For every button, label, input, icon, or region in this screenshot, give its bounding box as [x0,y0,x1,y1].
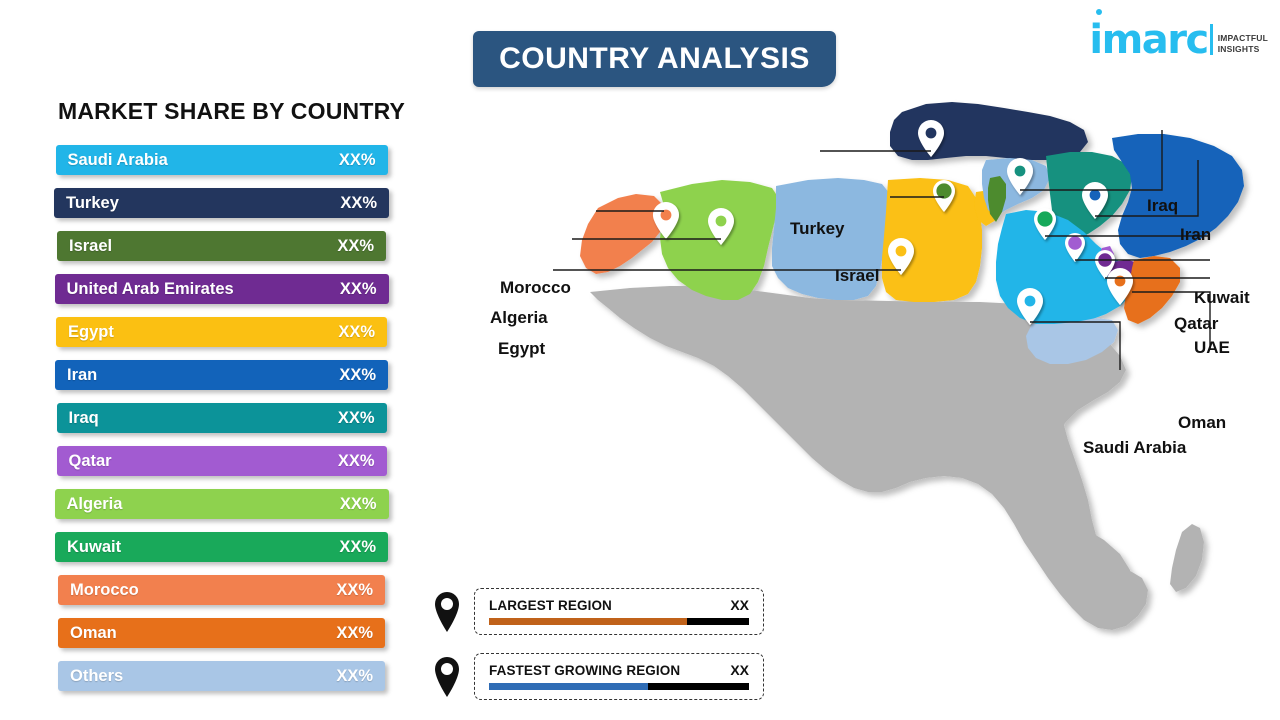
map-label-egypt: Egypt [498,339,545,359]
country-name: Turkey [66,194,119,213]
map-label-oman: Oman [1178,413,1226,433]
map-label-morocco: Morocco [500,278,571,298]
legend-track-fastest-growing-region [489,683,749,690]
country-bar-egypt[interactable]: EgyptXX% [56,317,387,347]
logo-tagline: IMPACTFUL INSIGHTS [1218,33,1268,58]
region-madagascar [1170,524,1204,592]
legend-label-fastest-growing-region: FASTEST GROWING REGION [489,663,680,678]
map-label-algeria: Algeria [490,308,548,328]
legend-label-largest-region: LARGEST REGION [489,598,612,613]
map-label-israel: Israel [835,266,879,286]
country-bar-algeria[interactable]: AlgeriaXX% [55,489,389,519]
country-bar-kuwait[interactable]: KuwaitXX% [55,532,388,562]
country-value: XX% [340,495,377,514]
country-bar-iran[interactable]: IranXX% [55,360,388,390]
legend-value-largest-region: XX [730,597,749,613]
country-value: XX% [336,624,373,643]
country-bar-qatar[interactable]: QatarXX% [57,446,387,476]
logo-wordmark: imarc [1089,23,1207,58]
country-name: United Arab Emirates [67,280,234,299]
logo-tagline-line2: INSIGHTS [1218,44,1268,54]
legend-row-fastest-growing-region: FASTEST GROWING REGION XX [432,653,764,700]
country-value: XX% [338,323,375,342]
country-name: Israel [69,237,112,256]
legend-box-largest-region: LARGEST REGION XX [474,588,764,635]
legend-box-fastest-growing-region: FASTEST GROWING REGION XX [474,653,764,700]
map-label-kuwait: Kuwait [1194,288,1250,308]
map-svg [420,80,1280,640]
country-bar-turkey[interactable]: TurkeyXX% [54,188,389,218]
country-name: Iraq [69,409,99,428]
logo-tagline-line1: IMPACTFUL [1218,33,1268,43]
map-label-uae: UAE [1194,338,1230,358]
country-bar-saudi-arabia[interactable]: Saudi ArabiaXX% [56,145,388,175]
country-name: Others [70,667,123,686]
location-pin-icon [432,655,462,699]
legend-fill-fastest-growing-region [489,683,648,690]
country-value: XX% [336,667,373,686]
country-name: Algeria [67,495,123,514]
legend-track-largest-region [489,618,749,625]
country-name: Egypt [68,323,114,342]
map-label-iraq: Iraq [1147,196,1178,216]
country-bar-israel[interactable]: IsraelXX% [57,231,386,261]
country-bar-iraq[interactable]: IraqXX% [57,403,387,433]
logo-divider-bar [1210,24,1213,55]
map-label-iran: Iran [1180,225,1211,245]
page-title: COUNTRY ANALYSIS [499,42,810,76]
country-name: Iran [67,366,97,385]
map-label-turkey: Turkey [790,219,845,239]
map-label-qatar: Qatar [1174,314,1218,334]
page-title-banner: COUNTRY ANALYSIS [473,31,836,87]
country-name: Kuwait [67,538,121,557]
country-value: XX% [338,409,375,428]
map-label-saudi-arabia: Saudi Arabia [1083,438,1186,458]
country-value: XX% [338,452,375,471]
country-name: Saudi Arabia [68,151,168,170]
legend-fill-largest-region [489,618,687,625]
country-value: XX% [339,366,376,385]
country-name: Oman [70,624,117,643]
location-pin-icon [432,590,462,634]
country-bar-morocco[interactable]: MoroccoXX% [58,575,385,605]
panel-heading: MARKET SHARE BY COUNTRY [58,98,405,125]
mena-map: Morocco Algeria Egypt Turkey Israel Iraq… [420,80,1280,640]
country-bar-others[interactable]: OthersXX% [58,661,385,691]
country-value: XX% [340,280,377,299]
country-bar-united-arab-emirates[interactable]: United Arab EmiratesXX% [55,274,389,304]
legend-row-largest-region: LARGEST REGION XX [432,588,764,635]
country-value: XX% [340,194,377,213]
logo-dot-icon [1096,9,1102,15]
region-morocco [580,194,666,274]
country-bar-oman[interactable]: OmanXX% [58,618,385,648]
country-value: XX% [336,581,373,600]
country-bar-list: Saudi ArabiaXX%TurkeyXX%IsraelXX%United … [0,145,420,704]
imarc-logo: imarc IMPACTFUL INSIGHTS [1089,18,1268,58]
country-name: Morocco [70,581,139,600]
country-value: XX% [337,237,374,256]
legend-value-fastest-growing-region: XX [730,662,749,678]
country-value: XX% [339,151,376,170]
country-value: XX% [339,538,376,557]
country-name: Qatar [69,452,112,471]
